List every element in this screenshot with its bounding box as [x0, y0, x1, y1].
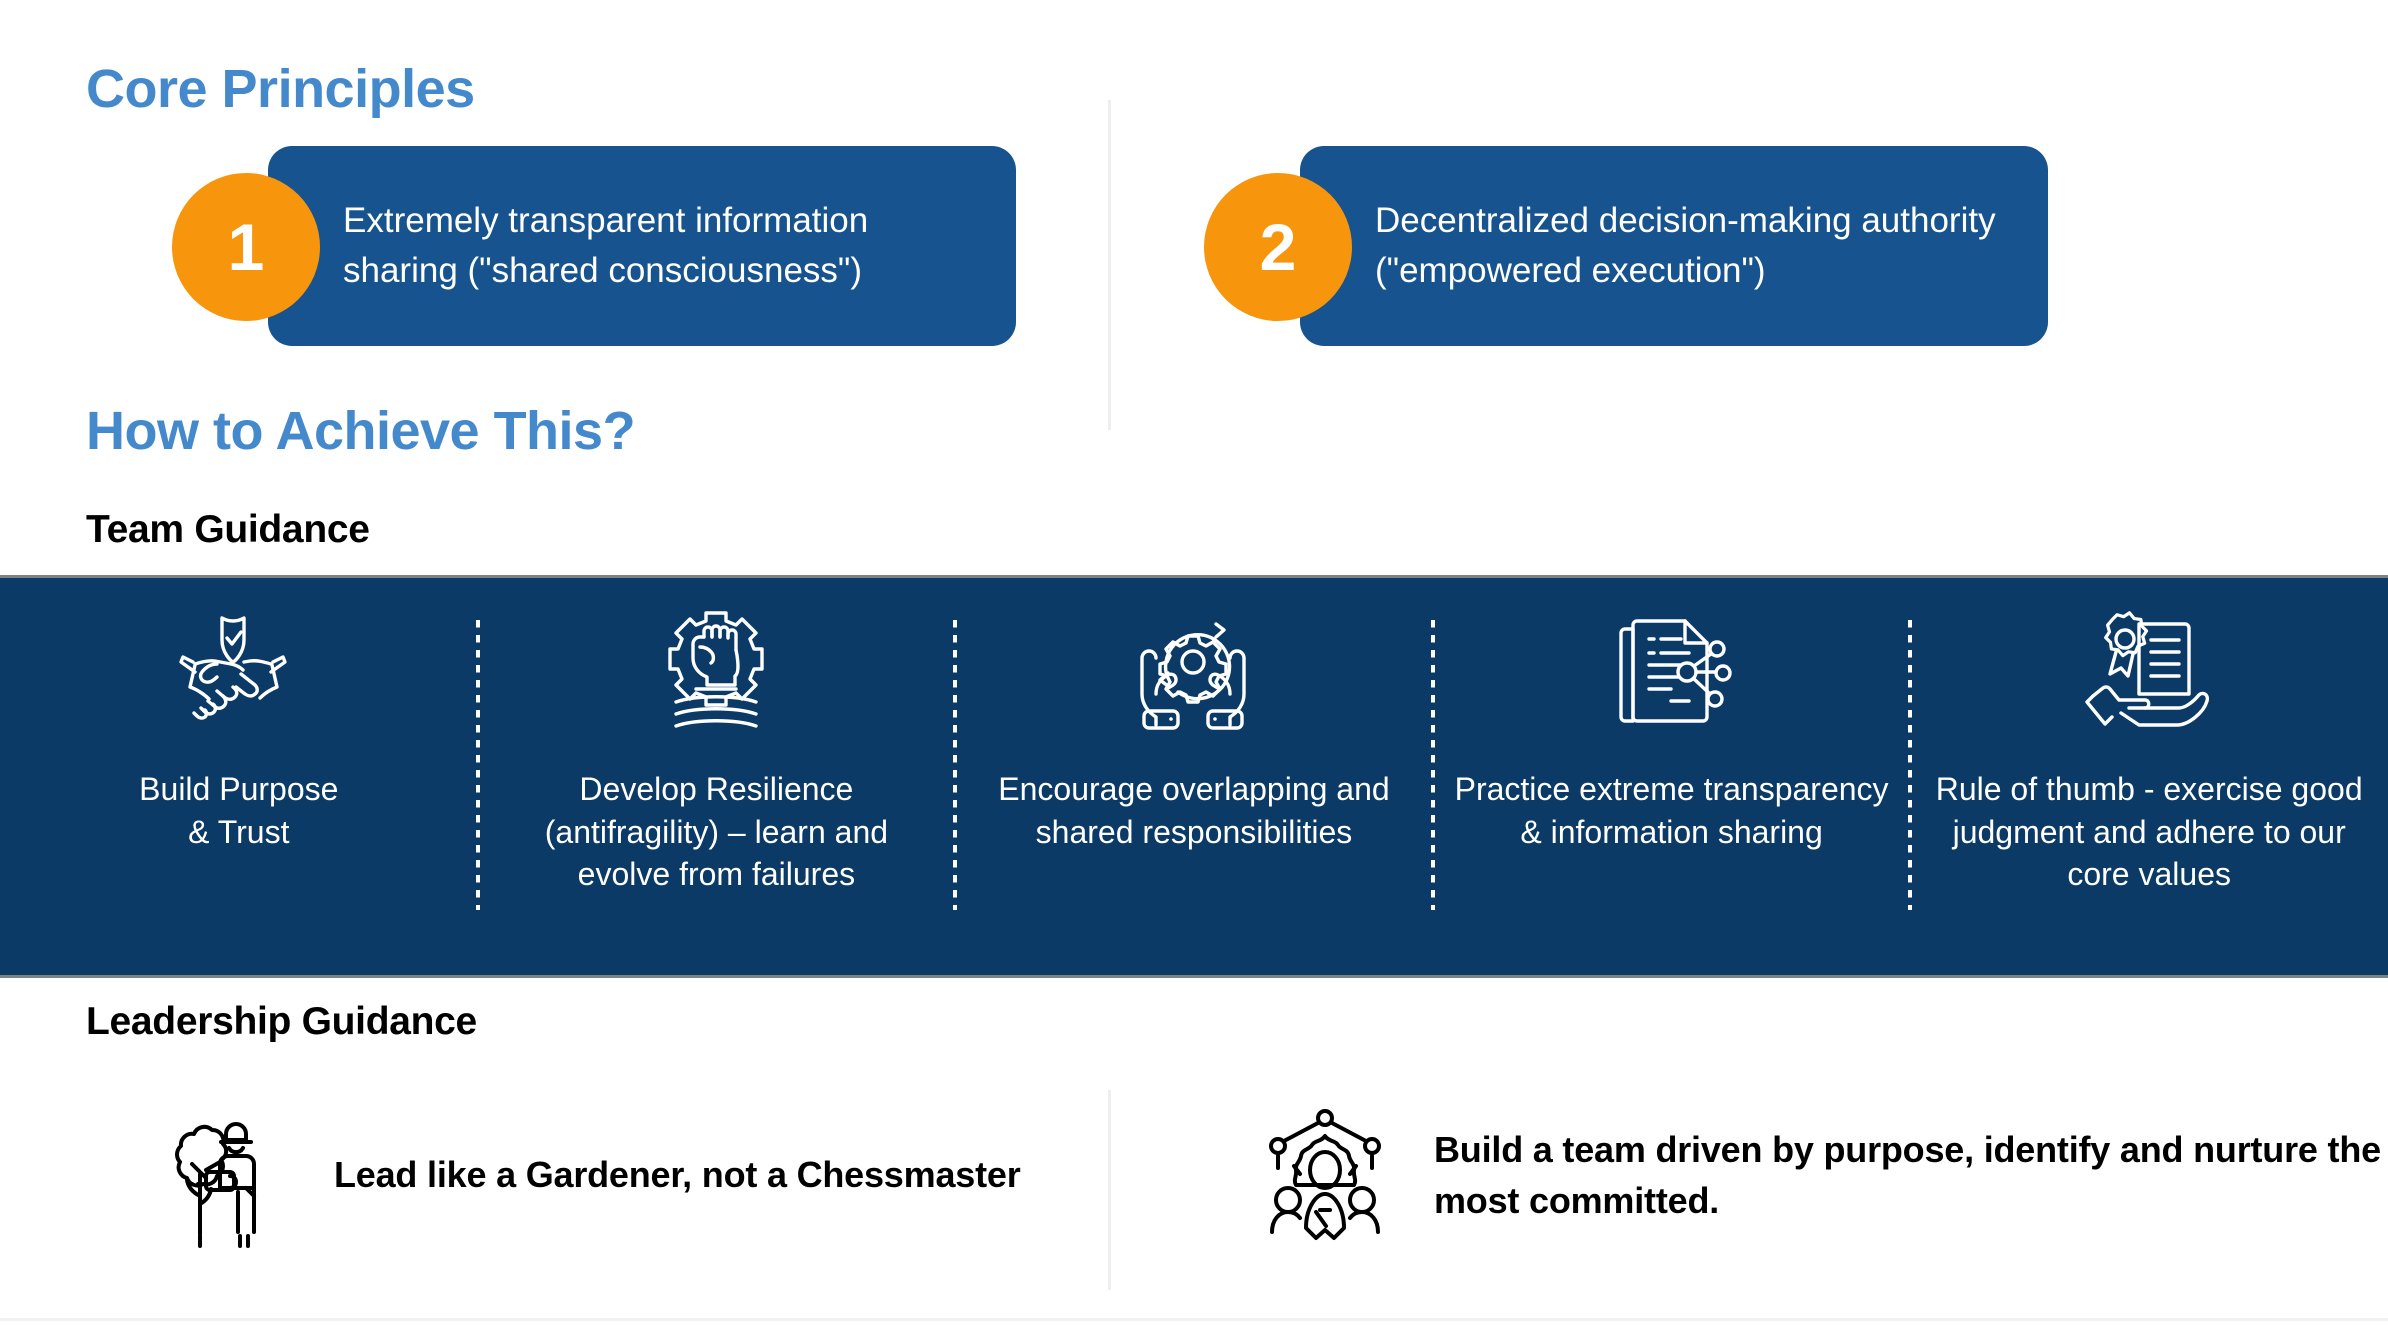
gardener-watering-plant-icon [150, 1100, 300, 1250]
team-guidance-heading: Team Guidance [86, 508, 370, 552]
team-guidance-item-5-label: Rule of thumb - exercise good judgment a… [1929, 768, 2368, 896]
core-principles-heading: Core Principles [86, 58, 475, 120]
principle-badge-2: 2 [1204, 173, 1352, 321]
certificate-on-hand-icon [2083, 606, 2215, 736]
leadership-item-2[interactable]: Build a team driven by purpose, identify… [1250, 1100, 2388, 1250]
team-guidance-item-2[interactable]: Develop Resilience (antifragility) – lea… [478, 578, 956, 896]
hands-holding-gear-icon [1128, 606, 1260, 736]
leadership-guidance-heading: Leadership Guidance [86, 1000, 477, 1044]
team-guidance-item-5[interactable]: Rule of thumb - exercise good judgment a… [1910, 578, 2388, 896]
team-guidance-item-3[interactable]: Encourage overlapping and shared respons… [955, 578, 1433, 853]
team-guidance-item-4-label: Practice extreme transparency & informat… [1452, 768, 1891, 853]
document-share-network-icon [1609, 606, 1735, 736]
leadership-item-1[interactable]: Lead like a Gardener, not a Chessmaster [150, 1100, 1021, 1250]
handshake-shield-icon [175, 606, 303, 736]
team-guidance-item-4[interactable]: Practice extreme transparency & informat… [1433, 578, 1911, 853]
leadership-item-1-text: Lead like a Gardener, not a Chessmaster [334, 1149, 1021, 1200]
gear-fist-resilience-icon [652, 606, 780, 736]
vertical-divider-bottom [1108, 1090, 1111, 1290]
principle-card-1-text: Extremely transparent information sharin… [268, 196, 1016, 295]
leadership-item-2-text: Build a team driven by purpose, identify… [1434, 1124, 2388, 1226]
principle-card-1[interactable]: Extremely transparent information sharin… [268, 146, 1016, 346]
bottom-edge-line [0, 1318, 2388, 1321]
team-network-people-icon [1250, 1100, 1400, 1250]
principle-card-2-text: Decentralized decision-making authority … [1300, 196, 2048, 295]
principle-card-2[interactable]: Decentralized decision-making authority … [1300, 146, 2048, 346]
vertical-divider-top [1108, 100, 1111, 430]
team-guidance-band: Build Purpose& Trust Develop Resilience … [0, 575, 2388, 978]
how-to-achieve-heading: How to Achieve This? [86, 400, 635, 462]
team-guidance-item-1[interactable]: Build Purpose& Trust [0, 578, 478, 853]
team-guidance-item-1-label: Build Purpose& Trust [19, 768, 458, 853]
team-guidance-item-3-label: Encourage overlapping and shared respons… [974, 768, 1413, 853]
team-guidance-item-2-label: Develop Resilience (antifragility) – lea… [497, 768, 936, 896]
principle-badge-1: 1 [172, 173, 320, 321]
